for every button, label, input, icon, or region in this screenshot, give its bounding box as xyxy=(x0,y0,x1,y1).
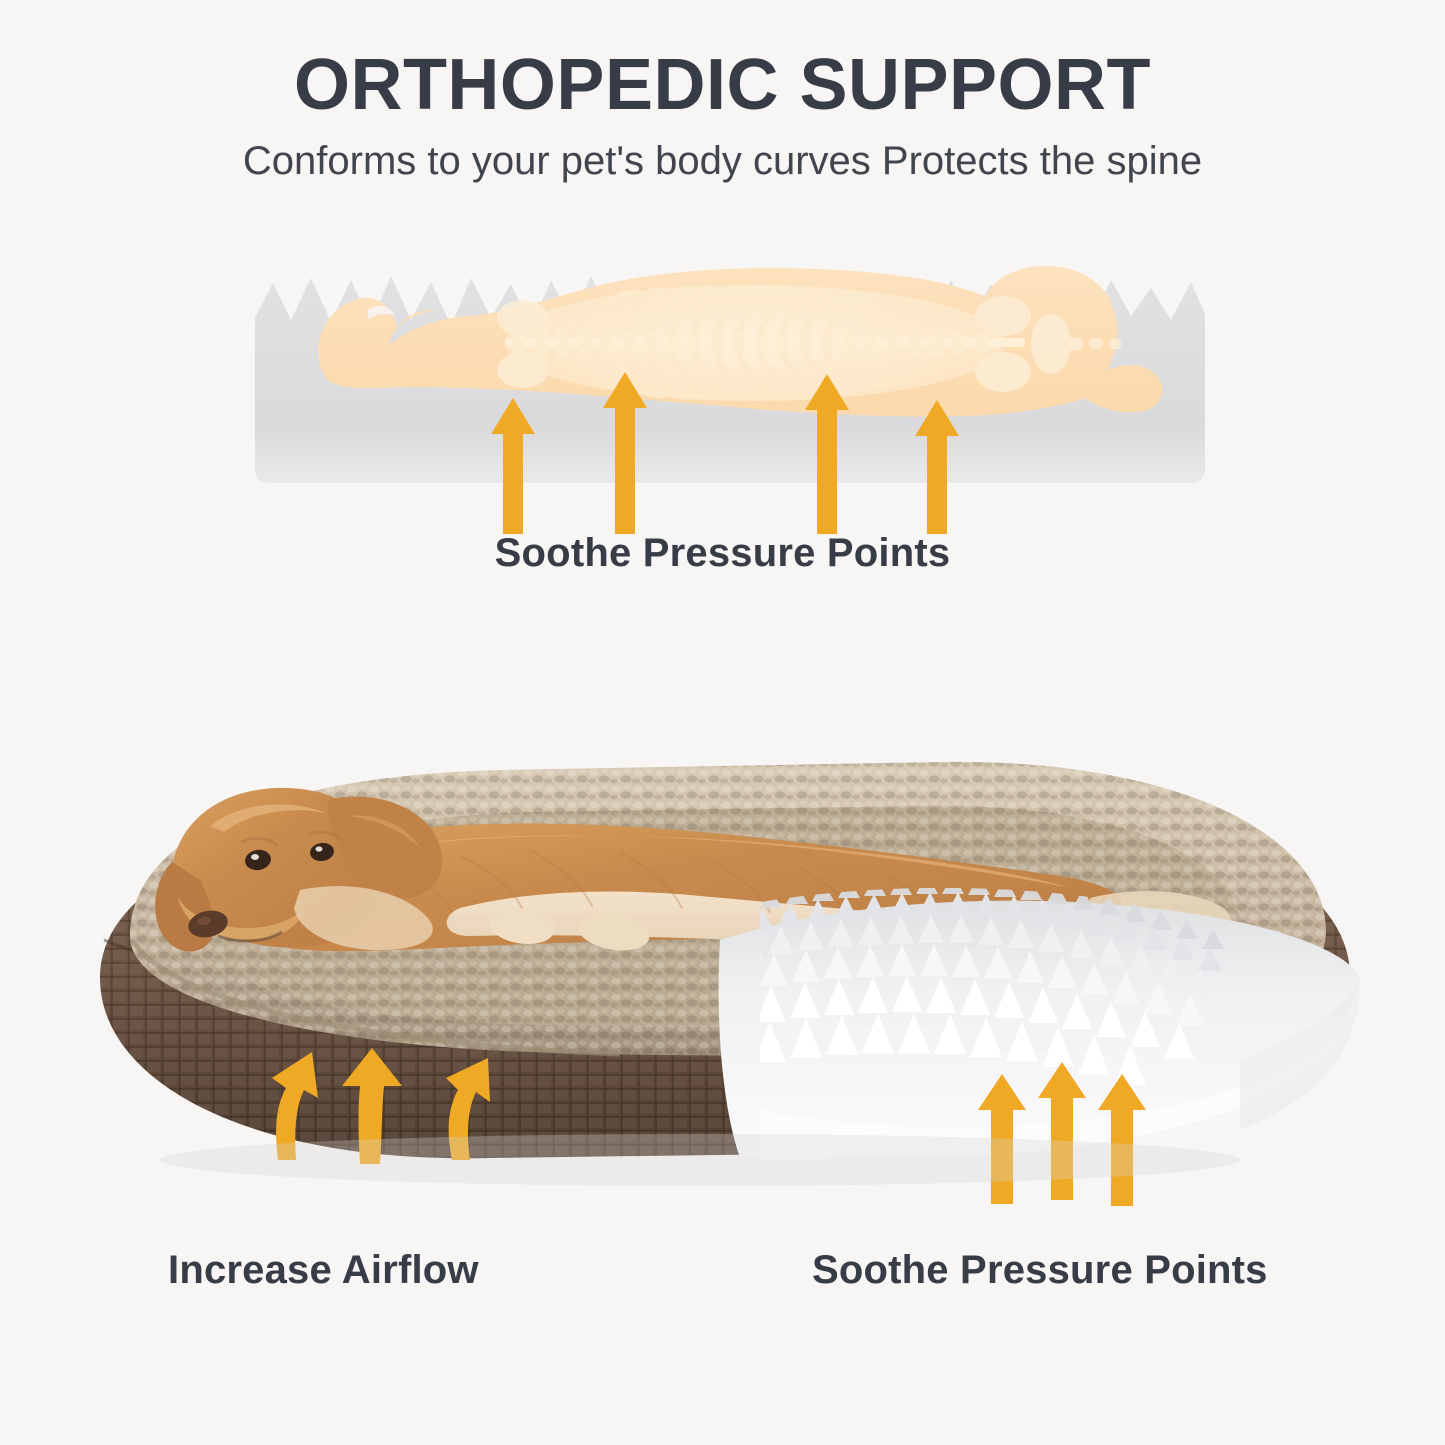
pressure-arrow-group-bottom xyxy=(978,1062,1146,1206)
header: ORTHOPEDIC SUPPORT Conforms to your pet'… xyxy=(0,0,1445,185)
page-subtitle: Conforms to your pet's body curves Prote… xyxy=(0,123,1445,185)
dog-head xyxy=(155,788,442,952)
increase-airflow-label: Increase Airflow xyxy=(168,1248,479,1293)
product-photo-scene xyxy=(60,640,1390,1240)
page-title: ORTHOPEDIC SUPPORT xyxy=(0,0,1445,123)
soothe-pressure-points-label-bottom: Soothe Pressure Points xyxy=(812,1248,1268,1293)
bed-shadow xyxy=(160,1134,1240,1186)
pressure-points-label-top: Soothe Pressure Points xyxy=(0,531,1445,576)
